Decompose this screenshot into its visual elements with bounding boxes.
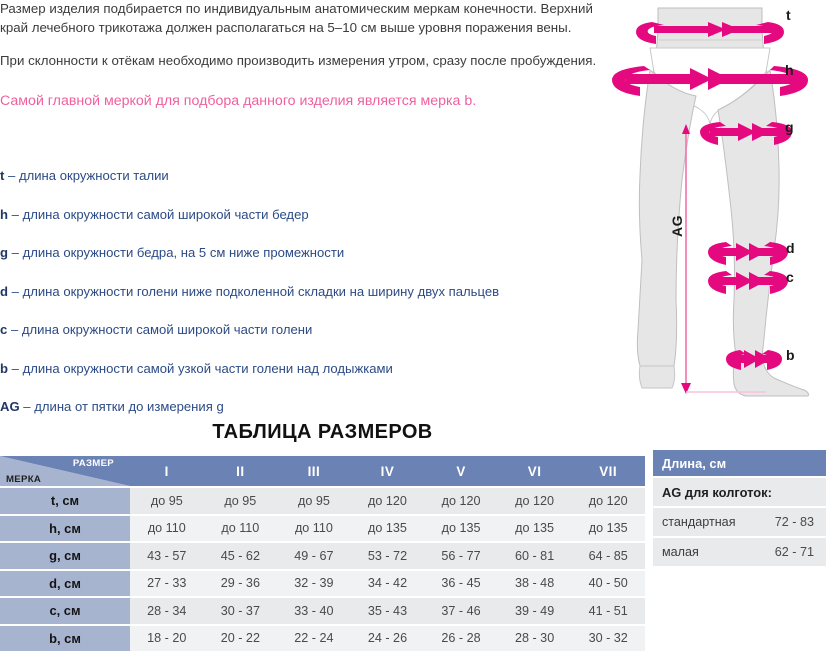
cell-value: до 110 [277,515,351,543]
cell-value: 28 - 30 [498,625,572,653]
length-table-row: стандартная 72 - 83 [653,507,826,537]
corner-measure-label: МЕРКА [6,474,41,485]
cell-value: до 120 [571,487,645,515]
cell-value: до 120 [351,487,425,515]
size-table: РАЗМЕР МЕРКА I II III IV V VI VII t, см … [0,456,645,653]
cell-value: до 120 [498,487,572,515]
cell-value: до 120 [424,487,498,515]
length-table-header: Длина, см [653,450,826,477]
legend-item-g: g – длина окружности бедра, на 5 см ниже… [0,245,620,260]
figure-label-h: h [785,62,794,78]
cell-value: 26 - 28 [424,625,498,653]
cell-value: 20 - 22 [204,625,278,653]
size-header-5: V [424,456,498,487]
figure-label-d: d [786,240,795,256]
length-row-label: стандартная [653,507,740,537]
size-header-7: VII [571,456,645,487]
figure-label-ag: AG [669,215,685,237]
cell-value: 60 - 81 [498,542,572,570]
size-header-2: II [204,456,278,487]
legend-item-b: b – длина окружности самой узкой части г… [0,361,620,376]
cell-value: 33 - 40 [277,597,351,625]
figure-label-b: b [786,347,795,363]
table-row: d, см 27 - 33 29 - 36 32 - 39 34 - 42 36… [0,570,645,598]
legend-text-d: длина окружности голени ниже подколенной… [23,284,500,299]
cell-value: до 110 [130,515,204,543]
intro-paragraph-1: Размер изделия подбирается по индивидуал… [0,0,612,38]
legend-key-c: c [0,322,7,337]
cell-value: до 110 [204,515,278,543]
cell-value: 22 - 24 [277,625,351,653]
cell-value: 28 - 34 [130,597,204,625]
size-table-header-row: РАЗМЕР МЕРКА I II III IV V VI VII [0,456,645,487]
row-measure-label: t, см [0,487,130,515]
size-table-body: t, см до 95 до 95 до 95 до 120 до 120 до… [0,487,645,652]
legend-dash: – [12,284,19,299]
length-table: Длина, см AG для колготок: стандартная 7… [653,450,826,568]
size-header-3: III [277,456,351,487]
cell-value: до 95 [204,487,278,515]
cell-value: 27 - 33 [130,570,204,598]
cell-value: 36 - 45 [424,570,498,598]
table-row: t, см до 95 до 95 до 95 до 120 до 120 до… [0,487,645,515]
cell-value: 38 - 48 [498,570,572,598]
legend-key-d: d [0,284,8,299]
cell-value: 45 - 62 [204,542,278,570]
size-table-title: ТАБЛИЦА РАЗМЕРОВ [0,421,645,444]
legend-text-c: длина окружности самой широкой части гол… [22,322,312,337]
cell-value: до 135 [351,515,425,543]
corner-size-label: РАЗМЕР [73,458,114,469]
row-measure-label: b, см [0,625,130,653]
cell-value: 32 - 39 [277,570,351,598]
measurement-legend: t – длина окружности талии h – длина окр… [0,168,620,438]
table-row: b, см 18 - 20 20 - 22 22 - 24 24 - 26 26… [0,625,645,653]
cell-value: 53 - 72 [351,542,425,570]
legend-key-b: b [0,361,8,376]
row-measure-label: g, см [0,542,130,570]
size-header-1: I [130,456,204,487]
intro-highlight-note: Самой главной меркой для подбора данного… [0,91,612,111]
cell-value: 30 - 37 [204,597,278,625]
legend-item-ag: AG – длина от пятки до измерения g [0,399,620,414]
legend-text-b: длина окружности самой узкой части голен… [23,361,393,376]
cell-value: 40 - 50 [571,570,645,598]
cell-value: до 95 [277,487,351,515]
length-table-subtitle: AG для колготок: [653,477,826,507]
body-silhouette [637,8,808,396]
legend-dash: – [12,361,19,376]
cell-value: 35 - 43 [351,597,425,625]
legend-dash: – [8,168,15,183]
cell-value: 29 - 36 [204,570,278,598]
size-chart-page: Размер изделия подбирается по индивидуал… [0,0,826,651]
cell-value: 24 - 26 [351,625,425,653]
length-table-row: малая 62 - 71 [653,537,826,567]
length-table-subtitle-row: AG для колготок: [653,477,826,507]
cell-value: 30 - 32 [571,625,645,653]
legend-item-d: d – длина окружности голени ниже подколе… [0,284,620,299]
intro-paragraph-2: При склонности к отёкам необходимо произ… [0,52,612,71]
legend-item-c: c – длина окружности самой широкой части… [0,322,620,337]
table-row: h, см до 110 до 110 до 110 до 135 до 135… [0,515,645,543]
cell-value: 18 - 20 [130,625,204,653]
cell-value: до 135 [498,515,572,543]
cell-value: 64 - 85 [571,542,645,570]
legend-dash: – [23,399,30,414]
size-header-6: VI [498,456,572,487]
legend-dash: – [12,207,19,222]
legend-text-t: длина окружности талии [19,168,169,183]
legend-dash: – [11,322,18,337]
legend-text-h: длина окружности самой широкой части бед… [23,207,309,222]
cell-value: 37 - 46 [424,597,498,625]
size-header-4: IV [351,456,425,487]
table-corner-cell: РАЗМЕР МЕРКА [0,456,130,487]
cell-value: до 135 [571,515,645,543]
legend-key-g: g [0,245,8,260]
table-row: c, см 28 - 34 30 - 37 33 - 40 35 - 43 37… [0,597,645,625]
length-row-value: 62 - 71 [740,537,826,567]
anatomical-figure: t h g d c b AG [596,0,826,412]
figure-label-g: g [785,119,794,135]
cell-value: 49 - 67 [277,542,351,570]
legend-item-h: h – длина окружности самой широкой части… [0,207,620,222]
cell-value: 34 - 42 [351,570,425,598]
cell-value: 39 - 49 [498,597,572,625]
row-measure-label: h, см [0,515,130,543]
legend-item-t: t – длина окружности талии [0,168,620,183]
legend-text-g: длина окружности бедра, на 5 см ниже про… [23,245,345,260]
legend-dash: – [12,245,19,260]
legend-key-t: t [0,168,4,183]
cell-value: 41 - 51 [571,597,645,625]
length-table-header-row: Длина, см [653,450,826,477]
legend-text-ag: длина от пятки до измерения g [34,399,224,414]
cell-value: 56 - 77 [424,542,498,570]
length-row-value: 72 - 83 [740,507,826,537]
length-row-label: малая [653,537,740,567]
cell-value: до 135 [424,515,498,543]
intro-text-block: Размер изделия подбирается по индивидуал… [0,0,612,133]
legend-key-h: h [0,207,8,222]
cell-value: 43 - 57 [130,542,204,570]
size-table-head: РАЗМЕР МЕРКА I II III IV V VI VII [0,456,645,487]
cell-value: до 95 [130,487,204,515]
table-row: g, см 43 - 57 45 - 62 49 - 67 53 - 72 56… [0,542,645,570]
figure-label-c: c [786,269,794,285]
row-measure-label: c, см [0,597,130,625]
row-measure-label: d, см [0,570,130,598]
figure-label-t: t [786,7,791,23]
legend-key-ag: AG [0,399,20,414]
